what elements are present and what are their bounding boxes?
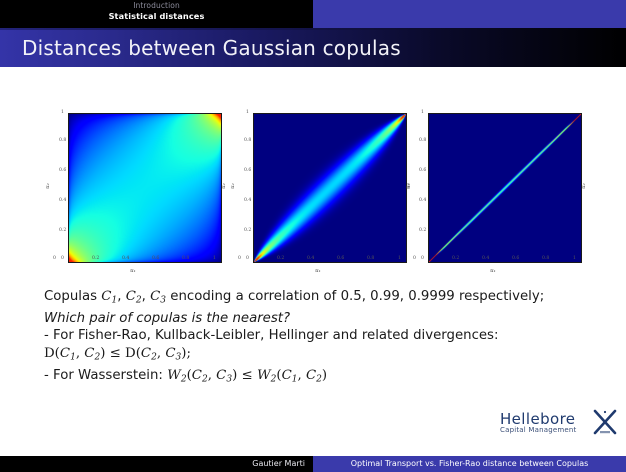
body-line-5-wasserstein-inequality: - For Wasserstein: W2(C2, C3) ≤ W2(C1, C… xyxy=(44,367,589,389)
body-line5-prefix: - For Wasserstein: xyxy=(44,368,163,383)
figure-row: 0 0.2 0.4 0.6 0.8 1 0 0.2 0.4 0.6 0.8 1 … xyxy=(0,105,626,280)
figure-copula-c1: 0 0.2 0.4 0.6 0.8 1 0 0.2 0.4 0.6 0.8 1 … xyxy=(44,105,222,277)
x-logo-mark-icon xyxy=(592,408,618,436)
paren-close-4: ) xyxy=(322,368,327,383)
less-equal-sign-2: ≤ xyxy=(242,368,253,383)
divergence-d-symbol: D xyxy=(44,346,55,361)
y-tick-label: 0.6 xyxy=(59,168,66,173)
body-line-3: - For Fisher-Rao, Kullback-Leibler, Hell… xyxy=(44,327,589,345)
y-tick-label: 1 xyxy=(246,110,249,115)
copula-c2-symbol: C2 xyxy=(126,289,142,304)
y-axis-label-right: u₂ xyxy=(581,176,587,196)
y-tick-label: 0.8 xyxy=(59,138,66,143)
copula-c3-symbol: C3 xyxy=(150,289,166,304)
comma-6: , xyxy=(298,368,306,383)
copula-c2-symbol: C2 xyxy=(306,368,322,383)
copula-c2-symbol: C2 xyxy=(84,346,100,361)
x-tick-label: 1 xyxy=(213,256,216,261)
semicolon: ; xyxy=(186,346,190,361)
y-tick-label: 0.2 xyxy=(419,228,426,233)
comma-1: , xyxy=(117,289,121,304)
slide-body-text: Copulas C1, C2, C3 encoding a correlatio… xyxy=(44,288,589,388)
x-tick-label: 0.8 xyxy=(542,256,549,261)
x-tick-label: 0.6 xyxy=(152,256,159,261)
x-tick-label: 0.8 xyxy=(367,256,374,261)
x-tick-label: 0.8 xyxy=(182,256,189,261)
page-title: Distances between Gaussian copulas xyxy=(22,36,401,60)
x-tick-label: 0.2 xyxy=(277,256,284,261)
x-tick-label: 0.2 xyxy=(92,256,99,261)
x-tick-label: 0.2 xyxy=(452,256,459,261)
y-tick-label: 1 xyxy=(421,110,424,115)
y-tick-label: 0.2 xyxy=(244,228,251,233)
x-tick-label: 0.6 xyxy=(337,256,344,261)
copula-c3-symbol: C3 xyxy=(216,368,232,383)
nav-subsection-statistical-distances[interactable]: Statistical distances xyxy=(0,11,313,21)
x-axis-label: u₁ xyxy=(404,268,582,274)
footer-right-section: Optimal Transport vs. Fisher-Rao distanc… xyxy=(313,456,626,472)
heatmap-plot-c1 xyxy=(68,113,222,263)
y-axis-label: u₂ xyxy=(45,176,51,196)
wasserstein-w2-symbol: W2 xyxy=(257,368,276,383)
nav-section-introduction[interactable]: Introduction xyxy=(0,1,313,10)
paren-close-1: ) xyxy=(100,346,105,361)
x-tick-label: 1 xyxy=(398,256,401,261)
correlation-values: 0.5, 0.99, 0.9999 xyxy=(341,289,455,304)
y-axis-label: u₂ xyxy=(405,176,411,196)
slide-footer: Gautier Marti Optimal Transport vs. Fish… xyxy=(0,456,626,472)
y-tick-label: 0.4 xyxy=(244,198,251,203)
copula-c1-symbol: C1 xyxy=(101,289,117,304)
body-line1-suffix: respectively; xyxy=(459,289,544,304)
comma-3: , xyxy=(76,346,84,361)
x-tick-label: 0.4 xyxy=(307,256,314,261)
hellebore-logo: Hellebore Capital Management xyxy=(498,408,618,444)
x-tick-label: 0 xyxy=(238,256,241,261)
footer-left-section: Gautier Marti xyxy=(0,456,313,472)
heatmap-canvas-c1 xyxy=(69,114,221,262)
wasserstein-w2-symbol: W2 xyxy=(167,368,186,383)
comma-2: , xyxy=(142,289,146,304)
y-tick-label: 0.8 xyxy=(244,138,251,143)
y-tick-label: 0 xyxy=(61,256,64,261)
copula-c1-symbol: C1 xyxy=(60,346,76,361)
y-tick-label: 0 xyxy=(421,256,424,261)
copula-c1-symbol: C1 xyxy=(282,368,298,383)
x-tick-label: 0.6 xyxy=(512,256,519,261)
y-tick-label: 0.4 xyxy=(59,198,66,203)
body-line1-mid: encoding a correlation of xyxy=(170,289,336,304)
y-tick-label: 0.4 xyxy=(419,198,426,203)
top-navigation-bar: Introduction Statistical distances xyxy=(0,0,626,28)
comma-5: , xyxy=(208,368,216,383)
logo-company-subtitle: Capital Management xyxy=(500,426,576,434)
y-axis-label-right: u₂ xyxy=(221,176,227,196)
copula-c2-symbol: C2 xyxy=(141,346,157,361)
figure-copula-c2: 0 0.2 0.4 0.6 0.8 1 0 0.2 0.4 0.6 0.8 1 … xyxy=(229,105,407,277)
x-tick-label: 0 xyxy=(53,256,56,261)
y-tick-label: 0 xyxy=(246,256,249,261)
copula-c2-symbol: C2 xyxy=(192,368,208,383)
y-tick-label: 0.8 xyxy=(419,138,426,143)
y-axis-label: u₂ xyxy=(230,176,236,196)
footer-author: Gautier Marti xyxy=(252,459,305,468)
body-line-4-divergence-inequality: D(C1, C2) ≤ D(C2, C3); xyxy=(44,345,589,367)
divergence-d-symbol: D xyxy=(125,346,136,361)
heatmap-canvas-c3 xyxy=(429,114,581,262)
x-tick-label: 0 xyxy=(413,256,416,261)
x-tick-label: 0.4 xyxy=(482,256,489,261)
body-line-2-question: Which pair of copulas is the nearest? xyxy=(44,310,589,328)
y-tick-label: 0.2 xyxy=(59,228,66,233)
body-line1-prefix: Copulas xyxy=(44,289,97,304)
body-line-1: Copulas C1, C2, C3 encoding a correlatio… xyxy=(44,288,589,310)
less-equal-sign-1: ≤ xyxy=(110,346,121,361)
x-axis-label: u₁ xyxy=(44,268,222,274)
paren-close-3: ) xyxy=(232,368,237,383)
x-axis-label: u₁ xyxy=(229,268,407,274)
heatmap-plot-c2 xyxy=(253,113,407,263)
footer-talk-title: Optimal Transport vs. Fisher-Rao distanc… xyxy=(313,459,626,468)
copula-c3-symbol: C3 xyxy=(165,346,181,361)
figure-copula-c3: 0 0.2 0.4 0.6 0.8 1 0 0.2 0.4 0.6 0.8 1 … xyxy=(404,105,582,277)
x-tick-label: 0.4 xyxy=(122,256,129,261)
y-tick-label: 0.6 xyxy=(244,168,251,173)
heatmap-canvas-c2 xyxy=(254,114,406,262)
y-tick-label: 1 xyxy=(61,110,64,115)
heatmap-plot-c3 xyxy=(428,113,582,263)
x-tick-label: 1 xyxy=(573,256,576,261)
y-tick-label: 0.6 xyxy=(419,168,426,173)
